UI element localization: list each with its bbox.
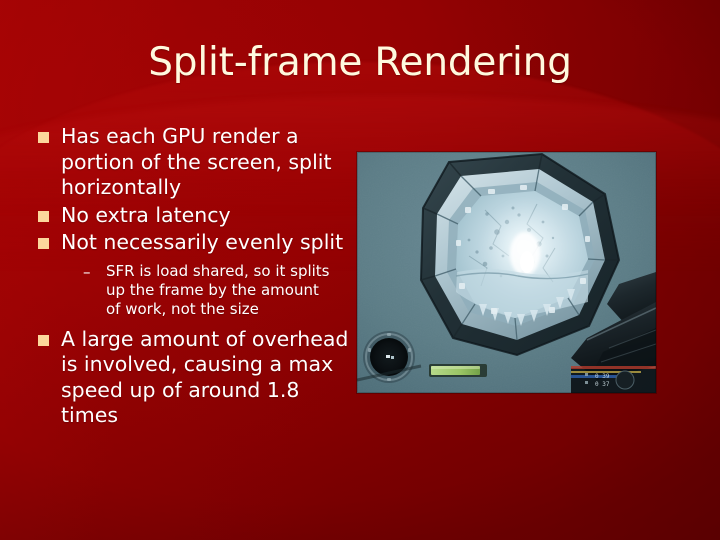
svg-text:0 39: 0 39 bbox=[595, 373, 610, 380]
game-screenshot-image: 0 39 0 37 bbox=[357, 152, 656, 393]
bullet-item: No extra latency bbox=[38, 203, 350, 229]
square-bullet-icon bbox=[38, 132, 49, 143]
bullet-item: Has each GPU render a portion of the scr… bbox=[38, 124, 350, 201]
slide-canvas: Split-frame Rendering Has each GPU rende… bbox=[0, 0, 720, 540]
slide-body: Has each GPU render a portion of the scr… bbox=[38, 124, 350, 431]
square-bullet-icon bbox=[38, 238, 49, 249]
bullet-text: Has each GPU render a portion of the scr… bbox=[61, 124, 350, 201]
bullet-text: No extra latency bbox=[61, 203, 350, 229]
dash-bullet-icon: – bbox=[83, 263, 95, 282]
game-screenshot-svg: 0 39 0 37 bbox=[357, 152, 656, 393]
bullet-text: Not necessarily evenly split bbox=[61, 230, 350, 256]
bullet-item: A large amount of overhead is involved, … bbox=[38, 327, 350, 429]
sub-bullet-list: – SFR is load shared, so it splits up th… bbox=[83, 262, 335, 319]
bullet-item: Not necessarily evenly split bbox=[38, 230, 350, 256]
bullet-text: A large amount of overhead is involved, … bbox=[61, 327, 350, 429]
svg-text:0 37: 0 37 bbox=[595, 381, 610, 388]
square-bullet-icon bbox=[38, 335, 49, 346]
square-bullet-icon bbox=[38, 211, 49, 222]
slide-title: Split-frame Rendering bbox=[0, 40, 720, 86]
sub-bullet-text: SFR is load shared, so it splits up the … bbox=[106, 262, 335, 319]
sub-bullet-item: – SFR is load shared, so it splits up th… bbox=[83, 262, 335, 319]
